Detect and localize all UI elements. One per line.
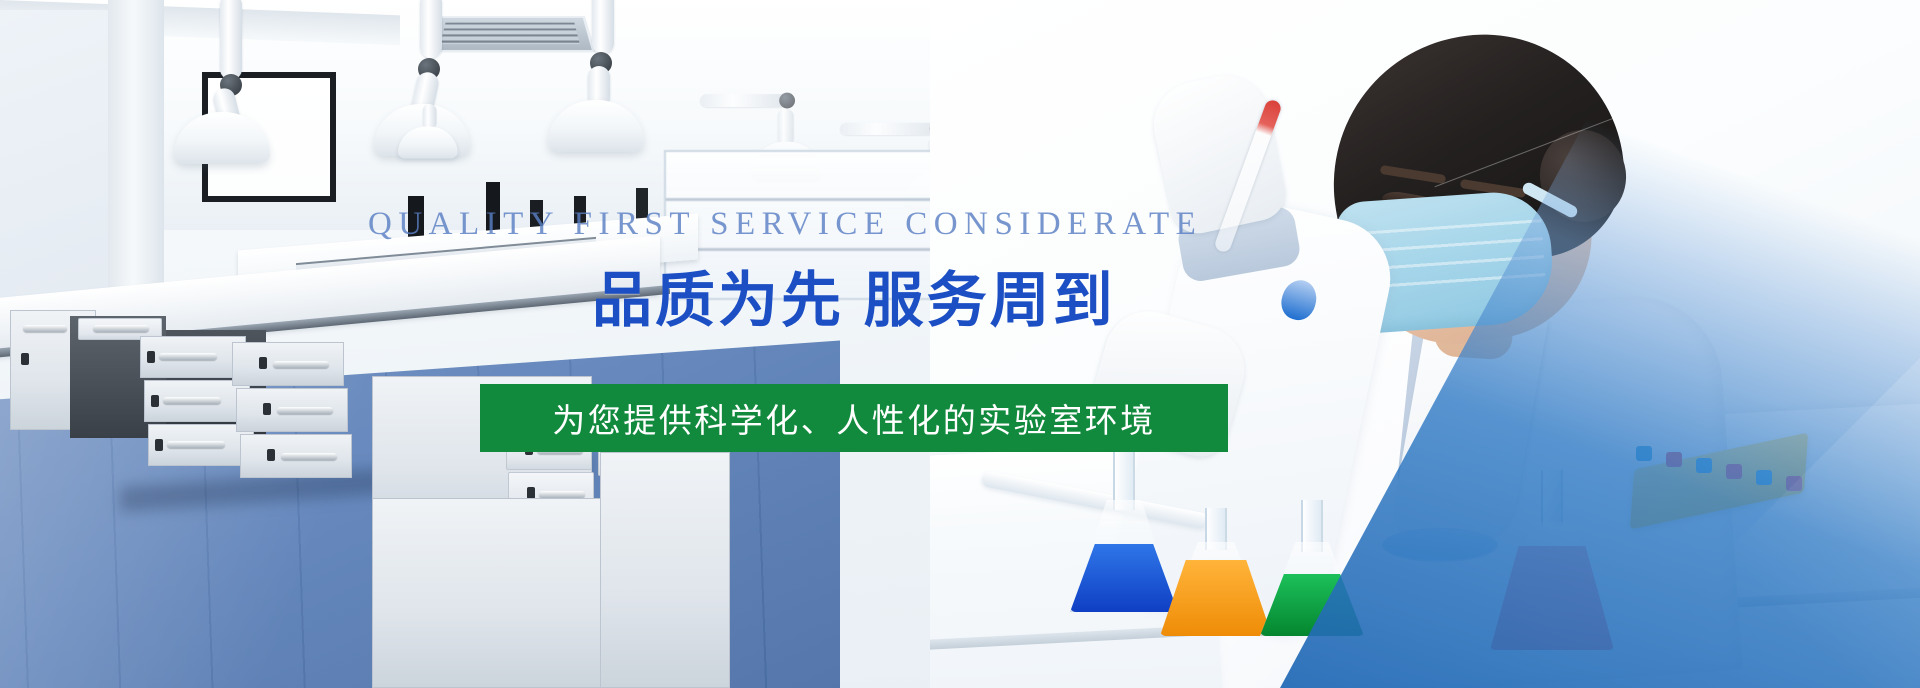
drawer (236, 388, 348, 432)
drawer (232, 342, 344, 386)
hero-banner: QUALITY FIRST SERVICE CONSIDERATE 品质为先 服… (0, 0, 1920, 688)
drawer-lock-icon (155, 439, 163, 451)
drawer (240, 434, 352, 478)
english-tagline: QUALITY FIRST SERVICE CONSIDERATE (368, 206, 1202, 243)
ac-ceiling-vent-icon (424, 16, 595, 52)
subheadline-text: 为您提供科学化、人性化的实验室环境 (552, 394, 1156, 442)
laboratory-photo-backdrop (0, 0, 1920, 688)
drawer-lock-icon (267, 449, 275, 461)
drawer-lock-icon (259, 357, 267, 369)
cabinet-side-panel (600, 452, 730, 688)
subheadline-banner: 为您提供科学化、人性化的实验室环境 (480, 384, 1228, 452)
orange-flask (1160, 508, 1272, 636)
headline-text: 品质为先 服务周到 (592, 252, 1116, 339)
drawer-lock-icon (263, 403, 271, 415)
cabinet-bank-lower (372, 498, 602, 688)
drawer-lock-icon (151, 395, 159, 407)
drawer-lock-icon (147, 351, 155, 363)
drawer (144, 380, 250, 422)
technician-scene (930, 0, 1920, 688)
wall-pillar (108, 0, 164, 300)
cabinet-lock-icon (21, 353, 29, 365)
drawer (140, 336, 246, 378)
